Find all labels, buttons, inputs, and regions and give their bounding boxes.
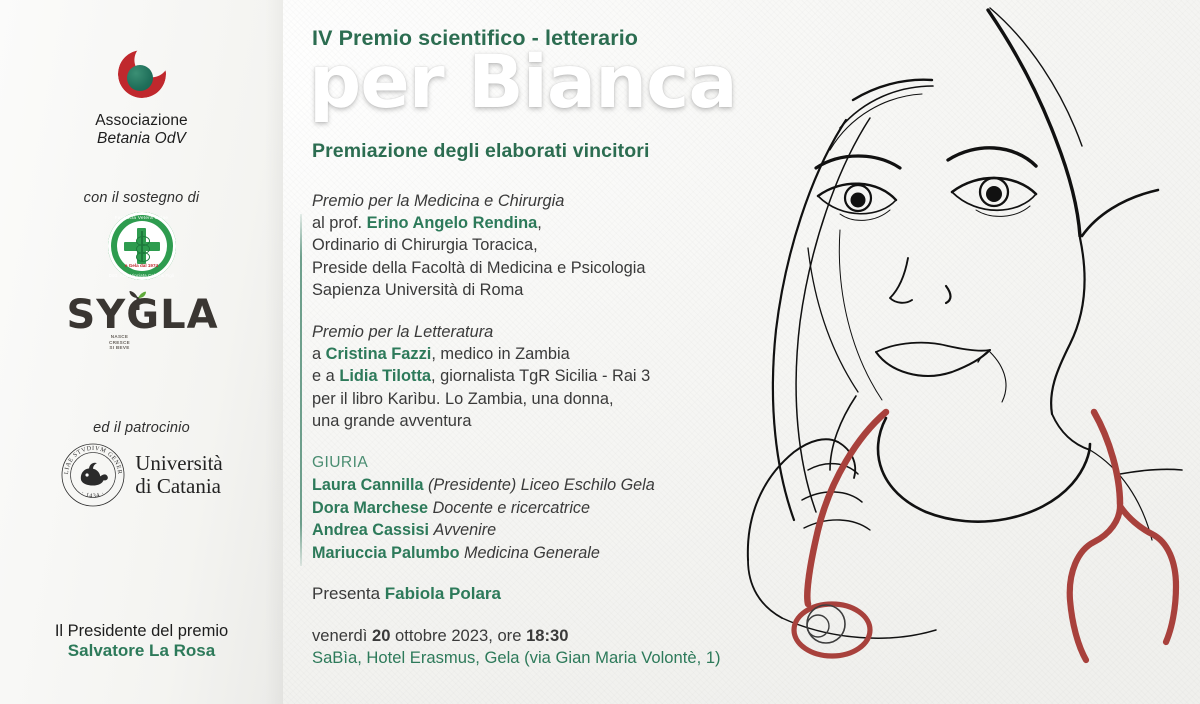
association-line1: Associazione bbox=[0, 112, 283, 130]
jury-member: Andrea Cassisi Avvenire bbox=[312, 519, 655, 541]
host-block: Presenta Fabiola Polara bbox=[312, 583, 501, 605]
patron-name: Università di Catania bbox=[135, 452, 222, 498]
event-venue: SaBìa, Hotel Erasmus, Gela (via Gian Mar… bbox=[312, 647, 721, 669]
association-line2: Betania OdV bbox=[0, 130, 283, 148]
award-line-suffix: , medico in Zambia bbox=[431, 345, 569, 363]
event-datetime: venerdì 20 ottobre 2023, ore 18:30 bbox=[312, 625, 721, 647]
award-line: una grande avventura bbox=[312, 410, 650, 432]
award-heading: Premio per la Letteratura bbox=[312, 321, 650, 343]
jury-label: GIURIA bbox=[312, 452, 655, 474]
association-block: Associazione Betania OdV bbox=[0, 50, 283, 148]
portrait-svg bbox=[690, 0, 1200, 704]
award-line-prefix: al prof. bbox=[312, 214, 367, 232]
farmacia-vetera-gelae-logo: Farmacia Vetera Gelae e Gela dal 1974 Do… bbox=[0, 212, 283, 280]
pharmacy-top-text: Farmacia Vetera Gelae bbox=[108, 215, 176, 220]
host-prefix: Presenta bbox=[312, 584, 385, 603]
event-details-block: venerdì 20 ottobre 2023, ore 18:30 SaBìa… bbox=[312, 625, 721, 669]
president-block: Il Presidente del premio Salvatore La Ro… bbox=[0, 622, 283, 661]
award-winner-name: Lidia Tilotta bbox=[339, 367, 431, 385]
host-name: Fabiola Polara bbox=[385, 584, 501, 603]
jury-member-role: (Presidente) Liceo Eschilo Gela bbox=[428, 476, 655, 494]
vertical-divider bbox=[300, 214, 302, 566]
event-day-number: 20 bbox=[372, 626, 390, 645]
award-line: Preside della Facoltà di Medicina e Psic… bbox=[312, 257, 645, 279]
sygla-logo: SYGLA NASCE CRESCE SI BEVE bbox=[0, 292, 283, 354]
support-label: con il sostegno di bbox=[0, 190, 283, 206]
patron-name-line2: di Catania bbox=[135, 475, 222, 498]
award-line-prefix: a bbox=[312, 345, 326, 363]
patron-block: SICILIAE STVDIVM GENERALE · 1434 · Unive… bbox=[0, 442, 283, 508]
award-line: Ordinario di Chirurgia Toracica, bbox=[312, 234, 645, 256]
sidebar: Associazione Betania OdV con il sostegno… bbox=[0, 0, 283, 704]
award-line: a Cristina Fazzi, medico in Zambia bbox=[312, 343, 650, 365]
award-line: Sapienza Università di Roma bbox=[312, 279, 645, 301]
jury-member-role: Docente e ricercatrice bbox=[433, 499, 590, 517]
award-line: per il libro Karìbu. Lo Zambia, una donn… bbox=[312, 388, 650, 410]
award-line: al prof. Erino Angelo Rendina, bbox=[312, 212, 645, 234]
jury-member-name: Mariuccia Palumbo bbox=[312, 544, 460, 562]
award-heading: Premio per la Medicina e Chirurgia bbox=[312, 190, 645, 212]
award-winner-name: Cristina Fazzi bbox=[326, 345, 432, 363]
pharmacy-bottom-text: Dott. Aldo Vinciata Calvo & Figli bbox=[108, 273, 176, 278]
jury-member-name: Dora Marchese bbox=[312, 499, 428, 517]
award-block-letteratura: Premio per la Letteratura a Cristina Faz… bbox=[312, 321, 650, 432]
jury-block: GIURIA Laura Cannilla (Presidente) Liceo… bbox=[312, 452, 655, 564]
woman-with-stethoscope-line-art bbox=[690, 0, 1200, 704]
jury-member: Laura Cannilla (Presidente) Liceo Eschil… bbox=[312, 474, 655, 496]
page-title: per Bianca bbox=[309, 44, 737, 122]
event-day-word: venerdì bbox=[312, 626, 372, 645]
betania-logo bbox=[112, 50, 172, 106]
event-subtitle: Premiazione degli elaborati vincitori bbox=[312, 140, 649, 163]
president-name: Salvatore La Rosa bbox=[0, 641, 283, 661]
pharmacy-snake-coil-3 bbox=[136, 252, 150, 262]
event-month-year: ottobre 2023, ore bbox=[390, 626, 526, 645]
universita-di-catania-seal: SICILIAE STVDIVM GENERALE · 1434 · bbox=[60, 442, 126, 508]
main-content: IV Premio scientifico - letterario per B… bbox=[283, 0, 753, 704]
sygla-sprout-icon bbox=[127, 290, 149, 310]
jury-member-role: Medicina Generale bbox=[464, 544, 600, 562]
patron-name-line1: Università bbox=[135, 452, 222, 475]
award-line-suffix: , giornalista TgR Sicilia - Rai 3 bbox=[431, 367, 650, 385]
patronage-label: ed il patrocinio bbox=[0, 420, 283, 436]
award-line-prefix: e a bbox=[312, 367, 339, 385]
sygla-subtext-line3: SI BEVE bbox=[100, 345, 140, 351]
pharmacy-mid-text: e Gela dal 1974 bbox=[108, 263, 176, 268]
event-time: 18:30 bbox=[526, 626, 568, 645]
jury-member-role: Avvenire bbox=[433, 521, 496, 539]
poster-canvas: Associazione Betania OdV con il sostegno… bbox=[0, 0, 1200, 704]
president-role: Il Presidente del premio bbox=[0, 622, 283, 641]
jury-member-name: Andrea Cassisi bbox=[312, 521, 429, 539]
award-line-suffix: , bbox=[537, 214, 542, 232]
jury-member: Dora Marchese Docente e ricercatrice bbox=[312, 497, 655, 519]
award-line: e a Lidia Tilotta, giornalista TgR Sicil… bbox=[312, 365, 650, 387]
sygla-subtext: NASCE CRESCE SI BEVE bbox=[100, 334, 140, 351]
jury-member: Mariuccia Palumbo Medicina Generale bbox=[312, 542, 655, 564]
jury-member-name: Laura Cannilla bbox=[312, 476, 424, 494]
betania-dot-shape bbox=[127, 65, 153, 91]
award-winner-name: Erino Angelo Rendina bbox=[367, 214, 538, 232]
award-block-medicina: Premio per la Medicina e Chirurgia al pr… bbox=[312, 190, 645, 301]
svg-text:· 1434 ·: · 1434 · bbox=[80, 491, 106, 500]
